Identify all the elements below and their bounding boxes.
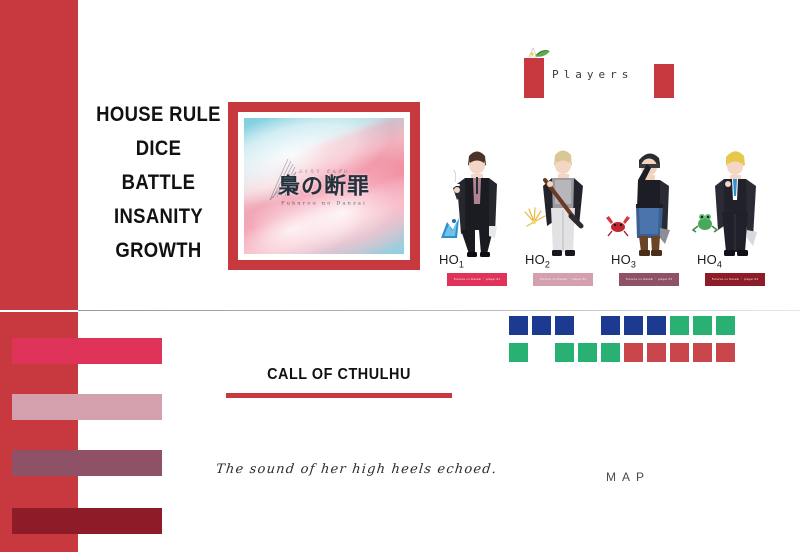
character-illustration-ho2 [531, 134, 595, 258]
player-caption-bar-ho4: Fukurou no Danzai ・ player 04 [705, 273, 765, 286]
spark-icon [521, 206, 547, 236]
player-label-ho4: HO4 [697, 252, 722, 270]
grid-row [509, 316, 739, 339]
grid-cell-blue[interactable] [555, 316, 574, 335]
grid-cell-red[interactable] [647, 343, 666, 362]
slide-canvas: HOUSE RULE DICE BATTLE INSANITY GROWTH [0, 0, 800, 552]
grid-cell-blue[interactable] [532, 316, 551, 335]
system-title: CALL OF CTHULHU [237, 366, 440, 384]
grid-cell-green[interactable] [601, 343, 620, 362]
keyart-image[interactable]: ふくろう だんざい 梟の断罪 Fukurou no Danzai [244, 118, 404, 254]
quote-text: The sound of her high heels echoed. [215, 462, 498, 477]
player-cards: HO1 Fukurou no Danzai ・ player 01 [437, 134, 777, 294]
player-label-ho3: HO3 [611, 252, 636, 270]
keyart-romaji-title: Fukurou no Danzai [244, 201, 404, 207]
red-crab-icon [605, 210, 631, 240]
swatch-dusty-pink[interactable] [12, 394, 162, 420]
grid-cell-green[interactable] [509, 343, 528, 362]
grid-cell-red[interactable] [693, 343, 712, 362]
grid-cell-red[interactable] [624, 343, 643, 362]
player-caption-ho1: Fukurou no Danzai ・ player 01 [447, 273, 507, 286]
grid-cell-blue[interactable] [647, 316, 666, 335]
grid-cell-empty [532, 343, 551, 362]
menu-item-battle[interactable]: BATTLE [95, 166, 223, 200]
grid-cell-green[interactable] [578, 343, 597, 362]
rail-top-block [0, 0, 78, 310]
menu-item-house-rule[interactable]: HOUSE RULE [95, 98, 223, 132]
player-caption-ho4: Fukurou no Danzai ・ player 04 [705, 273, 765, 286]
player-card-ho2[interactable]: HO2 Fukurou no Danzai ・ player 02 [523, 134, 603, 294]
keyart-white-mat: ふくろう だんざい 梟の断罪 Fukurou no Danzai [238, 112, 410, 260]
player-caption-ho3: Fukurou no Danzai ・ player 03 [619, 273, 679, 286]
players-bar-left [524, 58, 544, 98]
menu-item-dice[interactable]: DICE [95, 132, 223, 166]
player-card-ho3[interactable]: HO3 Fukurou no Danzai ・ player 03 [609, 134, 689, 294]
menu-item-insanity[interactable]: INSANITY [95, 200, 223, 234]
grid-cell-green[interactable] [693, 316, 712, 335]
color-square-grid [509, 316, 739, 370]
players-title: Players [552, 68, 633, 81]
grid-cell-green[interactable] [670, 316, 689, 335]
leaf-sprig-icon [526, 45, 552, 61]
map-label[interactable]: MAP [606, 470, 650, 484]
system-title-block: CALL OF CTHULHU [226, 366, 452, 398]
keyart-title-group: ふくろう だんざい 梟の断罪 Fukurou no Danzai [244, 169, 404, 207]
green-frog-icon [692, 206, 718, 236]
grid-cell-empty [578, 316, 597, 335]
swatch-crimson[interactable] [12, 338, 162, 364]
menu-item-growth[interactable]: GROWTH [95, 234, 223, 268]
keyart-kanji-title: 梟の断罪 [244, 176, 404, 198]
player-card-ho4[interactable]: HO4 Fukurou no Danzai ・ player 04 [695, 134, 775, 294]
players-header: Players [524, 58, 684, 98]
system-title-rule [226, 393, 452, 398]
player-card-ho1[interactable]: HO1 Fukurou no Danzai ・ player 01 [437, 134, 517, 294]
character-illustration-ho4 [703, 134, 767, 258]
player-caption-ho2: Fukurou no Danzai ・ player 02 [533, 273, 593, 286]
player-caption-bar-ho3: Fukurou no Danzai ・ player 03 [619, 273, 679, 286]
grid-cell-red[interactable] [670, 343, 689, 362]
swatch-dark-red[interactable] [12, 508, 162, 534]
grid-cell-blue[interactable] [624, 316, 643, 335]
swatch-mauve[interactable] [12, 450, 162, 476]
grid-cell-green[interactable] [716, 316, 735, 335]
player-caption-bar-ho1: Fukurou no Danzai ・ player 01 [447, 273, 507, 286]
grid-cell-red[interactable] [716, 343, 735, 362]
player-label-ho1: HO1 [439, 252, 464, 270]
grid-cell-green[interactable] [555, 343, 574, 362]
player-label-ho2: HO2 [525, 252, 550, 270]
grid-row [509, 343, 739, 366]
grid-cell-blue[interactable] [601, 316, 620, 335]
menu-list: HOUSE RULE DICE BATTLE INSANITY GROWTH [86, 98, 231, 268]
grid-cell-blue[interactable] [509, 316, 528, 335]
keyart-ruby: ふくろう だんざい [244, 169, 404, 175]
players-bar-right [654, 64, 674, 98]
blue-bird-icon [437, 212, 463, 242]
player-caption-bar-ho2: Fukurou no Danzai ・ player 02 [533, 273, 593, 286]
section-divider [78, 310, 800, 311]
